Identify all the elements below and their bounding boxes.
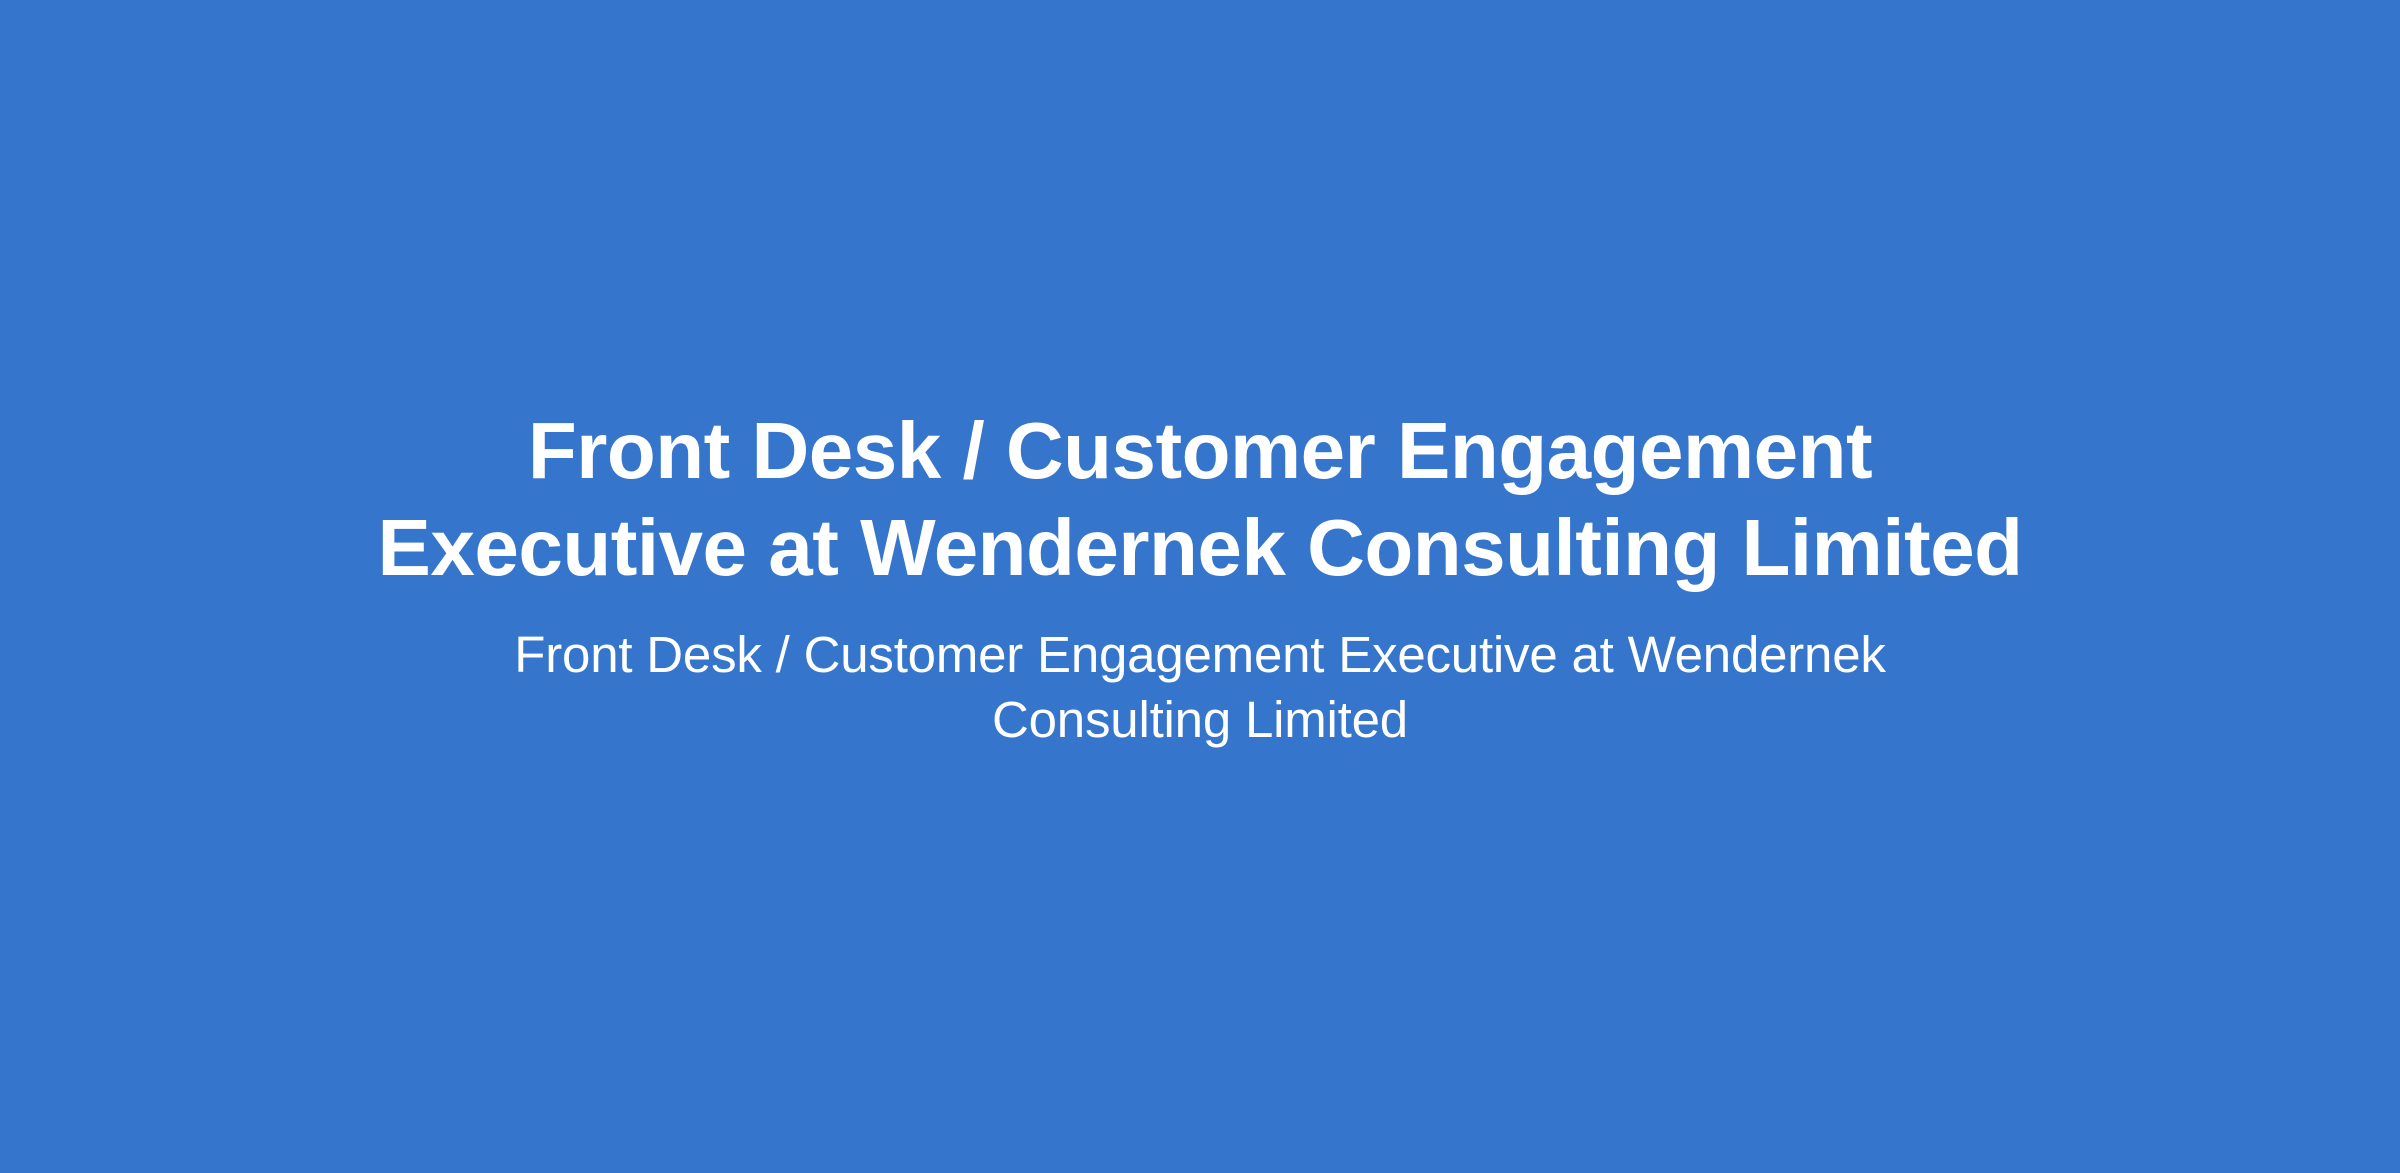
page-title: Front Desk / Customer Engagement Executi… xyxy=(350,402,2050,596)
page-subtitle: Front Desk / Customer Engagement Executi… xyxy=(460,622,1940,752)
share-card: Front Desk / Customer Engagement Executi… xyxy=(0,0,2400,1173)
card-content-block: Front Desk / Customer Engagement Executi… xyxy=(350,402,2050,752)
